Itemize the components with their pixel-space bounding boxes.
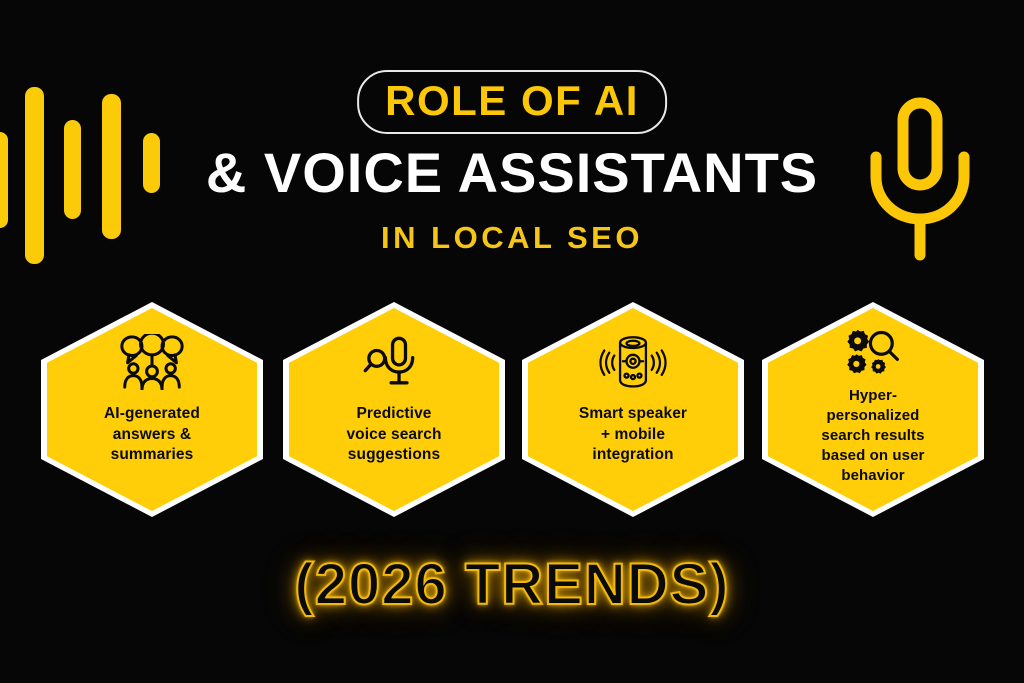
hexagon-label-line: summaries: [67, 445, 237, 466]
role-of-ai-badge: ROLE OF AI: [357, 70, 667, 134]
hexagon-card-row: AI-generated answers & summaries: [0, 302, 1024, 517]
hexagon-label: AI-generated answers & summaries: [67, 404, 237, 466]
hexagon-label-line: suggestions: [309, 445, 479, 466]
hexagon-label-line: personalized: [788, 406, 958, 426]
hexagon-card-hyper-personalized-results[interactable]: Hyper- personalized search results based…: [762, 302, 984, 517]
hexagon-label-line: search results: [788, 426, 958, 446]
infographic-canvas: ROLE OF AI & VOICE ASSISTANTS IN LOCAL S…: [0, 0, 1024, 683]
gears-magnifier-icon: [837, 328, 909, 378]
badge-label: ROLE OF AI: [385, 80, 639, 122]
hexagon-label-line: answers &: [67, 425, 237, 446]
hexagon-label-line: Predictive: [309, 404, 479, 425]
hexagon-label: Hyper- personalized search results based…: [788, 386, 958, 486]
hexagon-label-line: Smart speaker: [548, 404, 718, 425]
hexagon-label-line: + mobile: [548, 425, 718, 446]
hexagon-label-line: voice search: [309, 425, 479, 446]
hexagon-label-line: based on user: [788, 446, 958, 466]
hexagon-card-smart-speaker-mobile[interactable]: Smart speaker + mobile integration: [522, 302, 744, 517]
people-speech-bubbles-icon: [116, 334, 188, 390]
page-subtitle: IN LOCAL SEO: [0, 222, 1024, 253]
trends-neon-label: (2026 TRENDS): [0, 556, 1024, 614]
hexagon-label-line: behavior: [788, 466, 958, 486]
hexagon-label-line: AI-generated: [67, 404, 237, 425]
hexagon-content: Smart speaker + mobile integration: [522, 302, 744, 517]
hexagon-label-line: integration: [548, 445, 718, 466]
hexagon-content: AI-generated answers & summaries: [41, 302, 263, 517]
hexagon-label: Predictive voice search suggestions: [309, 404, 479, 466]
hexagon-content: Predictive voice search suggestions: [283, 302, 505, 517]
hexagon-label-line: Hyper-: [788, 386, 958, 406]
hexagon-content: Hyper- personalized search results based…: [762, 302, 984, 517]
hexagon-card-ai-generated-answers[interactable]: AI-generated answers & summaries: [41, 302, 263, 517]
hexagon-card-predictive-voice-search[interactable]: Predictive voice search suggestions: [283, 302, 505, 517]
page-title: & VOICE ASSISTANTS: [0, 145, 1024, 201]
hexagon-label: Smart speaker + mobile integration: [548, 404, 718, 466]
microphone-search-icon: [358, 334, 430, 390]
smart-speaker-icon: [597, 334, 669, 390]
